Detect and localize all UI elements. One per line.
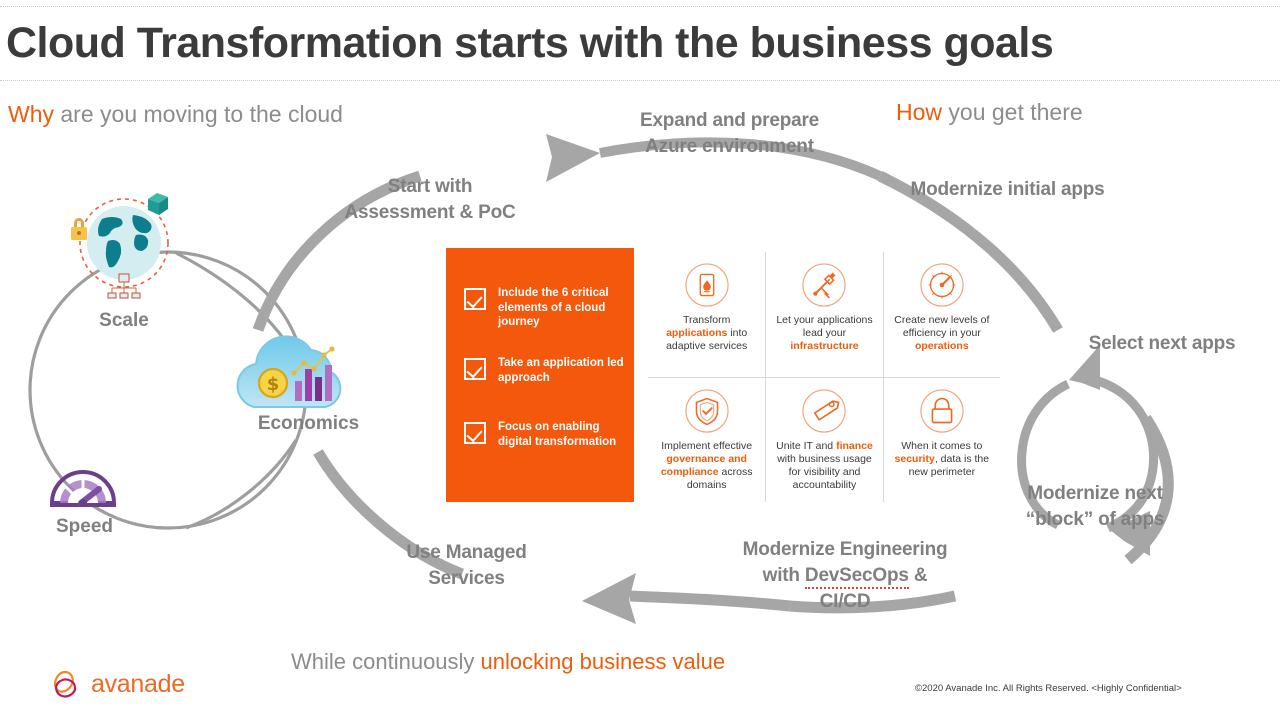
journey-label-managed-services: Use Managed Services xyxy=(374,540,559,592)
avanade-logo: avanade xyxy=(50,668,185,700)
tagline: While continuously unlocking business va… xyxy=(291,649,725,675)
journey-label-expand: Expand and prepare Azure environment xyxy=(632,108,827,160)
left-label-scale: Scale xyxy=(74,310,174,332)
grid-cell-text: Unite IT and finance with business usage… xyxy=(772,440,876,492)
checklist-item-label: Include the 6 critical elements of a clo… xyxy=(498,286,624,330)
grid-cell-applications: Transform applications into adaptive ser… xyxy=(648,252,765,377)
svg-text:$: $ xyxy=(267,374,280,395)
tagline-keyword: unlocking business value xyxy=(481,649,726,674)
section-head-how: How you get there xyxy=(896,99,1083,126)
modeng-spellcheck-word: DevSecOps xyxy=(805,565,909,589)
six-elements-grid: Transform applications into adaptive ser… xyxy=(648,252,1000,502)
journey-label-select-next: Select next apps xyxy=(1072,331,1252,357)
grid-cell-governance: Implement effective governance and compl… xyxy=(648,377,765,502)
grid-cell-text: Create new levels of efficiency in your … xyxy=(890,314,994,353)
journey-label-modernize-engineering: Modernize Engineering with DevSecOps & C… xyxy=(740,537,950,615)
checkbox-checked-icon xyxy=(464,288,486,310)
checklist-item: Take an application led approach xyxy=(464,356,624,385)
grid-cell-finance: Unite IT and finance with business usage… xyxy=(765,377,882,502)
price-tag-icon xyxy=(801,388,847,434)
journey-label-modernize-block: Modernize next “block” of apps xyxy=(1000,481,1190,533)
checklist-item: Focus on enabling digital transformation xyxy=(464,420,624,449)
grid-cell-text: Let your applications lead your infrastr… xyxy=(772,314,876,353)
globe-scale-icon xyxy=(71,193,168,298)
grid-cell-text: Implement effective governance and compl… xyxy=(654,440,759,492)
mobile-app-icon xyxy=(684,262,730,308)
journey-arrow-bottom xyxy=(582,573,636,624)
avanade-wordmark: avanade xyxy=(91,670,185,699)
checkbox-checked-icon xyxy=(464,422,486,444)
tagline-pre: While continuously xyxy=(291,649,481,674)
grid-cell-operations: Create new levels of efficiency in your … xyxy=(883,252,1000,377)
why-rest: are you moving to the cloud xyxy=(54,101,343,127)
checklist-item: Include the 6 critical elements of a clo… xyxy=(464,286,624,330)
grid-cell-text: When it comes to security, data is the n… xyxy=(890,440,994,479)
grid-cell-security: When it comes to security, data is the n… xyxy=(883,377,1000,502)
wrench-tools-icon xyxy=(801,262,847,308)
slide-canvas: Cloud Transformation starts with the bus… xyxy=(0,0,1280,720)
avanade-mark-icon xyxy=(50,668,84,700)
checklist-item-label: Take an application led approach xyxy=(498,356,624,385)
checkbox-checked-icon xyxy=(464,358,486,380)
journey-arrow-top xyxy=(546,134,600,182)
section-head-why: Why are you moving to the cloud xyxy=(8,101,343,128)
shield-check-icon xyxy=(684,388,730,434)
copyright-notice: ©2020 Avanade Inc. All Rights Reserved. … xyxy=(915,683,1182,694)
grid-cell-text: Transform applications into adaptive ser… xyxy=(654,314,759,353)
how-keyword: How xyxy=(896,99,942,125)
left-label-speed: Speed xyxy=(32,516,137,538)
orange-checklist-card: Include the 6 critical elements of a clo… xyxy=(446,248,634,502)
how-rest: you get there xyxy=(942,99,1083,125)
journey-label-start: Start with Assessment & PoC xyxy=(335,174,525,226)
cloud-economics-icon: $ xyxy=(238,336,341,407)
checklist-item-label: Focus on enabling digital transformation xyxy=(498,420,624,449)
journey-label-modernize-initial: Modernize initial apps xyxy=(910,177,1105,203)
why-keyword: Why xyxy=(8,101,54,127)
left-label-economics: Economics xyxy=(236,413,381,435)
padlock-icon xyxy=(919,388,965,434)
grid-cell-infrastructure: Let your applications lead your infrastr… xyxy=(765,252,882,377)
gauge-dial-icon xyxy=(919,262,965,308)
